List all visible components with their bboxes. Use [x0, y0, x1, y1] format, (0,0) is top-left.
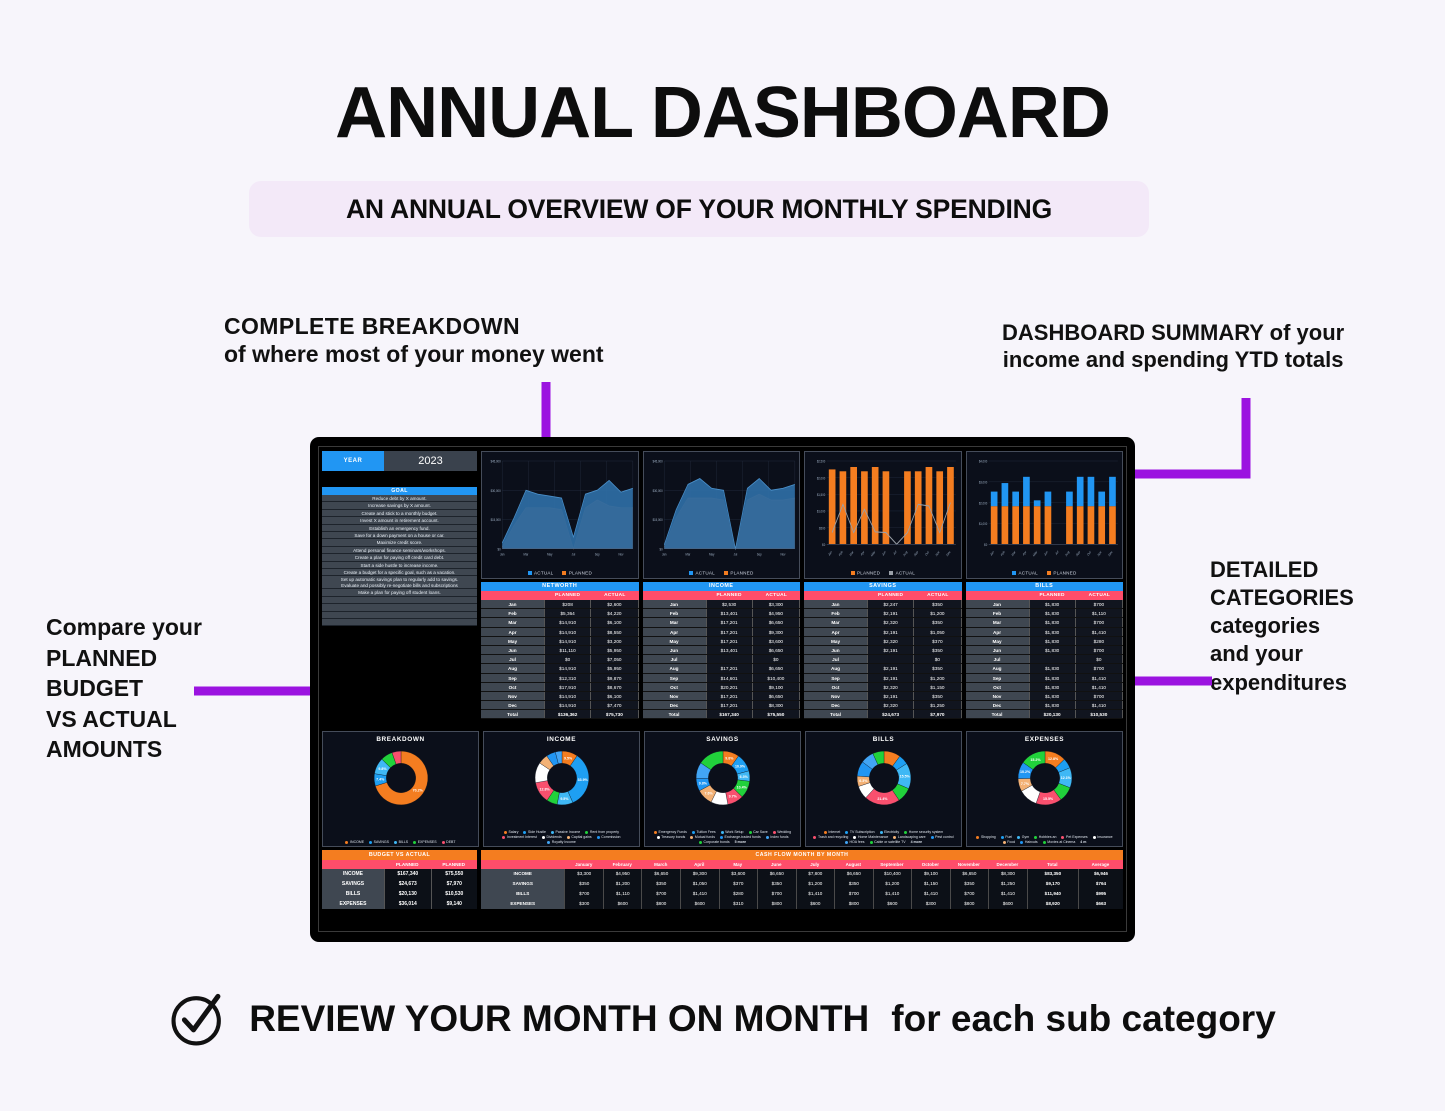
cashflow-cell[interactable]: $10,400 [873, 869, 912, 879]
table-cell-planned[interactable]: $12,310 [544, 674, 591, 682]
table-cell-planned[interactable]: $1,830 [1029, 683, 1076, 691]
table-row[interactable]: Jan$2,247$350 [804, 600, 962, 609]
cashflow-cell[interactable]: $350 [564, 879, 603, 889]
cashflow-cell[interactable]: $1,410 [680, 889, 719, 899]
cashflow-cell[interactable]: $6,650 [950, 869, 989, 879]
table-row[interactable]: Oct$1,830$1,410 [966, 683, 1124, 692]
goal-item[interactable]: Create and stick to a monthly budget. [322, 510, 477, 517]
goal-item[interactable]: Save for a down payment on a house or ca… [322, 532, 477, 539]
table-cell-planned[interactable]: $2,191 [867, 674, 914, 682]
cashflow-header-cell: Average [1078, 860, 1123, 869]
goal-item[interactable]: Increase savings by X amount. [322, 502, 477, 509]
cashflow-cell[interactable]: $280 [719, 889, 758, 899]
table-cell-actual[interactable]: $0 [753, 655, 800, 663]
pie-legend-more[interactable]: 4 m [1080, 840, 1086, 844]
svg-text:Nov: Nov [618, 552, 623, 557]
table-row[interactable]: Jan$2,530$3,300 [643, 600, 801, 609]
table-row[interactable]: Mar$2,320$350 [804, 618, 962, 627]
cashflow-cell[interactable]: $300 [564, 899, 603, 909]
table-cell-actual[interactable]: $6,650 [753, 692, 800, 700]
table-cell-planned[interactable]: $17,201 [706, 628, 753, 636]
table-row[interactable]: Dec$2,320$1,250 [804, 701, 962, 710]
pie-legend-label: Trash and recycling [818, 835, 848, 839]
table-row[interactable]: Oct$20,201$9,100 [643, 683, 801, 692]
cashflow-cell[interactable]: $600 [873, 899, 912, 909]
cashflow-cell[interactable]: $1,050 [680, 879, 719, 889]
table-cell-planned[interactable] [1029, 655, 1076, 663]
table-row[interactable]: Sep$1,830$1,410 [966, 674, 1124, 683]
table-row[interactable]: Sep$12,310$9,870 [481, 674, 639, 683]
chart-networth-area[interactable]: $0$15,000$30,000$45,000JanMarMayJulSepNo… [481, 451, 639, 579]
table-cell-actual[interactable]: $3,600 [753, 637, 800, 645]
table-title: SAVINGS [804, 582, 962, 591]
table-row[interactable]: Nov$17,201$6,650 [643, 692, 801, 701]
table-cell-planned[interactable] [867, 655, 914, 663]
table-cell-month: Dec [643, 701, 706, 709]
cashflow-cell[interactable]: $350 [950, 879, 989, 889]
table-row[interactable]: Aug$1,830$700 [966, 664, 1124, 673]
goal-items[interactable]: Reduce debt by X amount.Increase savings… [322, 495, 477, 584]
table-cell-actual[interactable]: $350 [914, 646, 961, 654]
legend-swatch-icon [1001, 836, 1004, 839]
cashflow-cell[interactable]: $6,650 [757, 869, 796, 879]
cashflow-cell[interactable]: $350 [757, 879, 796, 889]
table-row[interactable]: May$17,201$3,600 [643, 637, 801, 646]
table-cell-planned[interactable]: $1,830 [1029, 674, 1076, 682]
legend-item: PLANNED [1047, 570, 1077, 575]
bva-cell-label[interactable]: EXPENSES [322, 899, 384, 909]
table-row[interactable]: Oct$2,320$1,150 [804, 683, 962, 692]
cashflow-cell[interactable]: $3,300 [564, 869, 603, 879]
table-cell-planned[interactable]: $2,320 [867, 683, 914, 691]
table-row[interactable]: Dec$14,910$7,470 [481, 701, 639, 710]
table-cell-planned[interactable]: $2,191 [867, 628, 914, 636]
table-cell-actual[interactable]: $700 [1076, 618, 1123, 626]
table-cell-actual[interactable]: $2,600 [591, 600, 638, 608]
cashflow-cell[interactable]: $600 [988, 899, 1027, 909]
goal-item[interactable]: Reduce debt by X amount. [322, 495, 477, 502]
year-selector[interactable]: YEAR 2023 [322, 451, 477, 471]
svg-text:May: May [870, 549, 876, 557]
table-cash-flow[interactable]: CASH FLOW MONTH BY MONTH JanuaryFebruary… [481, 850, 1123, 927]
bva-cell-label[interactable]: SAVINGS [322, 879, 384, 889]
table-cell-actual[interactable]: $8,300 [753, 701, 800, 709]
cashflow-row[interactable]: INCOME$3,300$4,950$6,650$9,300$3,600$6,6… [481, 869, 1123, 879]
table-cell-planned[interactable]: $11,110 [544, 646, 591, 654]
table-cell-planned[interactable]: $1,830 [1029, 637, 1076, 645]
bva-cell-label[interactable]: INCOME [322, 869, 384, 879]
goal-header: GOAL [322, 487, 477, 495]
table-cell-actual[interactable]: $700 [1076, 664, 1123, 672]
pie-legend-item: Pet Expenses [1061, 835, 1087, 839]
table-cell-planned[interactable]: $2,191 [867, 692, 914, 700]
table-row[interactable]: May$14,910$3,200 [481, 637, 639, 646]
table-cell-actual[interactable]: $6,100 [591, 618, 638, 626]
pie-legend-label: Movies at Cinema [1047, 840, 1075, 844]
table-cell-planned[interactable]: $17,201 [706, 692, 753, 700]
table-cell-actual[interactable]: $1,250 [914, 701, 961, 709]
cashflow-row[interactable]: EXPENSES$300$600$800$600$310$800$600$800… [481, 899, 1123, 909]
table-total-row: Total$24,673$7,970 [804, 710, 962, 719]
table-income[interactable]: INCOME PLANNEDACTUALJan$2,530$3,300Feb$1… [643, 582, 801, 728]
table-cell-planned[interactable]: $14,910 [544, 664, 591, 672]
bva-row[interactable]: EXPENSES$36,014$9,140 [322, 899, 477, 909]
goal-item[interactable]: Make a plan for paying off student loans… [322, 589, 477, 596]
table-cell-actual[interactable]: $3,300 [753, 600, 800, 608]
table-cell-actual[interactable]: $350 [914, 692, 961, 700]
table-cell-actual[interactable]: $1,410 [1076, 701, 1123, 709]
table-cell-planned[interactable] [706, 655, 753, 663]
pie-legend-more[interactable]: 4 more [911, 840, 922, 844]
legend-swatch-icon [585, 831, 588, 834]
cashflow-cell[interactable]: $700 [641, 889, 680, 899]
table-cell-planned[interactable]: $0 [544, 655, 591, 663]
table-cell-planned[interactable]: $14,910 [544, 618, 591, 626]
table-cell-actual[interactable]: $5,950 [591, 664, 638, 672]
goal-item[interactable] [322, 612, 477, 619]
cashflow-cell[interactable]: $800 [834, 899, 873, 909]
goal-item[interactable]: Establish an emergency fund. [322, 525, 477, 532]
table-cell-actual[interactable]: $1,200 [914, 674, 961, 682]
bva-cell-planned[interactable]: $24,673 [384, 879, 431, 889]
table-cell-month: Nov [966, 692, 1029, 700]
svg-text:$1,000: $1,000 [978, 522, 986, 527]
table-cell-actual[interactable]: $9,870 [591, 674, 638, 682]
legend-label: PLANNED [730, 570, 753, 575]
table-cell-actual[interactable]: $3,200 [591, 637, 638, 645]
table-cell-planned[interactable]: $1,830 [1029, 701, 1076, 709]
table-cell-planned[interactable]: $2,191 [867, 646, 914, 654]
table-cell-actual[interactable]: $4,950 [753, 609, 800, 617]
table-row[interactable]: Apr$14,910$8,550 [481, 628, 639, 637]
table-cell-planned[interactable]: $13,401 [706, 609, 753, 617]
table-header-row: PLANNEDACTUAL [966, 591, 1124, 600]
table-row[interactable]: Sep$14,601$10,400 [643, 674, 801, 683]
cashflow-cell[interactable]: $600 [680, 899, 719, 909]
callout-compare-line5: AMOUNTS [46, 734, 202, 765]
cashflow-cell[interactable]: $800 [641, 899, 680, 909]
goal-item[interactable]: Maximize credit score. [322, 539, 477, 546]
table-row[interactable]: Oct$17,910$8,670 [481, 683, 639, 692]
table-cell-actual[interactable]: $350 [914, 600, 961, 608]
cashflow-cell[interactable]: $1,410 [796, 889, 835, 899]
table-cell-actual[interactable]: $1,410 [1076, 674, 1123, 682]
table-row[interactable]: Jul $0 [643, 655, 801, 664]
bva-header-cell [322, 860, 384, 869]
svg-text:9.7%: 9.7% [728, 795, 737, 799]
table-cell-actual[interactable]: $8,550 [591, 628, 638, 636]
table-budget-vs-actual[interactable]: BUDGET VS ACTUAL PLANNEDPLANNEDINCOME$16… [322, 850, 477, 927]
chart-savings-bar[interactable]: $0$500$1,000$1,500$2,000$2,500JanFebMarA… [804, 451, 962, 579]
table-row[interactable]: Aug$14,910$5,950 [481, 664, 639, 673]
table-row[interactable]: Nov$2,191$350 [804, 692, 962, 701]
cashflow-cell[interactable]: $1,110 [603, 889, 642, 899]
table-cell-planned[interactable]: $17,201 [706, 701, 753, 709]
table-cell-planned[interactable]: $2,320 [867, 701, 914, 709]
table-cell-actual[interactable]: $0 [914, 655, 961, 663]
table-cell-actual[interactable]: $6,650 [753, 618, 800, 626]
bva-row[interactable]: INCOME$167,340$75,550 [322, 869, 477, 879]
table-cell-actual[interactable]: $10,400 [753, 674, 800, 682]
table-row[interactable]: May$2,320$370 [804, 637, 962, 646]
table-row[interactable]: Mar$17,201$6,650 [643, 618, 801, 627]
table-row[interactable]: Jul $0 [966, 655, 1124, 664]
table-cell-actual[interactable]: $370 [914, 637, 961, 645]
table-cell-planned[interactable]: $5,364 [544, 609, 591, 617]
cashflow-cell[interactable]: $3,600 [719, 869, 758, 879]
legend-swatch-icon [394, 841, 397, 844]
table-cell-planned[interactable]: $13,401 [706, 646, 753, 654]
table-cell-actual[interactable]: $9,300 [753, 628, 800, 636]
table-row[interactable]: Apr$2,191$1,050 [804, 628, 962, 637]
cashflow-cell[interactable]: $1,410 [911, 889, 950, 899]
table-row[interactable]: Nov$14,910$6,100 [481, 692, 639, 701]
pie-legend-item: Dividends [542, 835, 562, 839]
table-cell-actual[interactable]: $350 [914, 618, 961, 626]
cashflow-cell[interactable]: $1,200 [603, 879, 642, 889]
goal-item[interactable]: Invest X amount in retirement account. [322, 517, 477, 524]
table-cell-month: Jul [804, 655, 867, 663]
table-row[interactable]: May$1,830$280 [966, 637, 1124, 646]
table-cell-planned[interactable]: $2,530 [706, 600, 753, 608]
cashflow-cell[interactable]: $800 [757, 899, 796, 909]
table-cell-month: Jan [966, 600, 1029, 608]
cashflow-cell[interactable]: $1,200 [796, 879, 835, 889]
chart-bills-bar[interactable]: $0$1,000$2,000$3,000$4,000JanFebMarAprMa… [966, 451, 1124, 579]
cashflow-cell[interactable]: $9,100 [911, 869, 950, 879]
cashflow-cell[interactable]: $1,150 [911, 879, 950, 889]
table-cell-planned[interactable]: $2,320 [867, 637, 914, 645]
table-row[interactable]: Feb$13,401$4,950 [643, 609, 801, 618]
bva-cell-planned[interactable]: $20,130 [384, 889, 431, 899]
cashflow-cell[interactable]: $7,800 [796, 869, 835, 879]
table-row[interactable]: Jul $0 [804, 655, 962, 664]
svg-text:Nov: Nov [780, 552, 785, 557]
cashflow-cell[interactable]: $1,200 [873, 879, 912, 889]
table-cell-planned[interactable]: $2,191 [867, 609, 914, 617]
donuts-row: BREAKDOWN 70.2%7.4%9.8% INCOMESAVINGSBIL… [322, 731, 1123, 847]
cashflow-cell[interactable]: $700 [834, 889, 873, 899]
cashflow-row[interactable]: SAVINGS$350$1,200$350$1,050$370$350$1,20… [481, 879, 1123, 889]
table-cell-actual[interactable]: $1,150 [914, 683, 961, 691]
svg-text:$0: $0 [659, 547, 662, 552]
goal-item[interactable] [322, 619, 477, 626]
bva-row[interactable]: BILLS$20,130$10,530 [322, 889, 477, 899]
bva-cell-actual[interactable]: $7,970 [431, 879, 478, 889]
svg-text:6.3%: 6.3% [859, 779, 868, 783]
table-row[interactable]: Jun$1,830$700 [966, 646, 1124, 655]
bva-cell-planned[interactable]: $167,340 [384, 869, 431, 879]
table-networth[interactable]: NETWORTH PLANNEDACTUALJan$208$2,600Feb$5… [481, 582, 639, 728]
table-cell-planned[interactable]: $17,201 [706, 637, 753, 645]
table-row[interactable]: Feb$2,191$1,200 [804, 609, 962, 618]
cashflow-cell[interactable]: $300 [911, 899, 950, 909]
table-row[interactable]: Jun$2,191$350 [804, 646, 962, 655]
table-cell-month: Nov [481, 692, 544, 700]
table-row[interactable]: Nov$1,830$700 [966, 692, 1124, 701]
table-cell-actual[interactable]: $700 [1076, 646, 1123, 654]
table-cell-actual[interactable]: $5,950 [591, 646, 638, 654]
table-cell-planned[interactable]: $17,201 [706, 664, 753, 672]
table-cell-actual[interactable]: $1,050 [914, 628, 961, 636]
table-row[interactable]: Aug$2,191$350 [804, 664, 962, 673]
cashflow-cell[interactable]: $1,250 [988, 879, 1027, 889]
pie-legend-item: DEBT [442, 840, 456, 844]
table-cell-planned[interactable]: $1,830 [1029, 692, 1076, 700]
table-cell-planned[interactable]: $17,201 [706, 618, 753, 626]
table-cell-planned[interactable]: $208 [544, 600, 591, 608]
table-cell-actual[interactable]: $6,650 [753, 646, 800, 654]
table-cell-actual[interactable]: $1,110 [1076, 609, 1123, 617]
legend-label: ACTUAL [1019, 570, 1038, 575]
goal-item[interactable]: Evaluate and possibly re-negotiate bills… [322, 582, 477, 589]
bva-cell-actual[interactable]: $75,550 [431, 869, 478, 879]
year-value[interactable]: 2023 [384, 451, 477, 471]
table-row[interactable]: Dec$17,201$8,300 [643, 701, 801, 710]
table-cell-planned[interactable]: $1,830 [1029, 609, 1076, 617]
bva-cell-label[interactable]: BILLS [322, 889, 384, 899]
cashflow-cell[interactable]: $4,950 [603, 869, 642, 879]
pie-legend-label: Hobbies an [1039, 835, 1057, 839]
table-cell-planned[interactable]: $2,320 [867, 618, 914, 626]
cashflow-cell[interactable]: $9,300 [680, 869, 719, 879]
cashflow-cell[interactable]: $350 [834, 879, 873, 889]
table-cell-actual[interactable]: $4,220 [591, 609, 638, 617]
table-cell-planned[interactable]: $2,247 [867, 600, 914, 608]
cashflow-cell[interactable]: $600 [796, 899, 835, 909]
table-bills[interactable]: BILLS PLANNEDACTUALJan$1,830$700Feb$1,83… [966, 582, 1124, 728]
pie-legend-label: Insurance [1097, 835, 1112, 839]
legend-swatch-icon [551, 831, 554, 834]
table-row[interactable]: Jul$0$7,050 [481, 655, 639, 664]
goal-item[interactable] [322, 604, 477, 611]
table-cell-planned[interactable]: $14,910 [544, 692, 591, 700]
cashflow-cell[interactable]: $350 [641, 879, 680, 889]
table-cell-planned[interactable]: $14,910 [544, 701, 591, 709]
bva-cell-planned[interactable]: $36,014 [384, 899, 431, 909]
cashflow-cell[interactable]: $310 [719, 899, 758, 909]
spreadsheet-canvas[interactable]: YEAR 2023 GOAL Reduce debt by X amount.I… [319, 447, 1126, 931]
table-row[interactable]: Feb$5,364$4,220 [481, 609, 639, 618]
table-row[interactable]: Jun$13,401$6,650 [643, 646, 801, 655]
table-cell-planned[interactable]: $1,830 [1029, 600, 1076, 608]
table-cell-actual[interactable]: $1,200 [914, 609, 961, 617]
table-cell-planned[interactable]: $14,601 [706, 674, 753, 682]
pie-legend-item: Pest control [931, 835, 954, 839]
cashflow-cell[interactable]: $370 [719, 879, 758, 889]
table-savings[interactable]: SAVINGS PLANNEDACTUALJan$2,247$350Feb$2,… [804, 582, 962, 728]
table-row[interactable]: Feb$1,830$1,110 [966, 609, 1124, 618]
table-cell-planned[interactable]: $1,830 [1029, 628, 1076, 636]
table-cell-planned[interactable]: $20,201 [706, 683, 753, 691]
legend-swatch-icon [1043, 841, 1046, 844]
table-cell-planned[interactable]: $1,830 [1029, 646, 1076, 654]
table-row[interactable]: Jun$11,110$5,950 [481, 646, 639, 655]
cashflow-cell[interactable]: $6,650 [641, 869, 680, 879]
cashflow-cell[interactable]: $700 [950, 889, 989, 899]
cashflow-cell[interactable]: $1,410 [988, 889, 1027, 899]
table-cell-actual[interactable]: $280 [1076, 637, 1123, 645]
bva-cell-actual[interactable]: $9,140 [431, 899, 478, 909]
table-cell-actual[interactable]: $0 [1076, 655, 1123, 663]
table-cell-actual[interactable]: $350 [914, 664, 961, 672]
table-cell-actual[interactable]: $9,100 [753, 683, 800, 691]
table-cell-actual[interactable]: $1,410 [1076, 683, 1123, 691]
footer-main-text: REVIEW YOUR MONTH ON MONTH [249, 998, 869, 1040]
cashflow-cell[interactable]: $6,650 [834, 869, 873, 879]
goal-item[interactable]: Start a side hustle to increase income. [322, 562, 477, 569]
pie-legend-more[interactable]: 5 more [735, 840, 746, 844]
pie-legend-label: Side Hustle [528, 830, 546, 834]
cashflow-cell[interactable]: $800 [950, 899, 989, 909]
goal-item[interactable]: Create a budget for a specific goal, suc… [322, 569, 477, 576]
cashflow-row[interactable]: BILLS$700$1,110$700$1,410$280$700$1,410$… [481, 889, 1123, 899]
dashboard-screen[interactable]: YEAR 2023 GOAL Reduce debt by X amount.I… [318, 446, 1127, 932]
table-cell-planned[interactable]: $14,910 [544, 628, 591, 636]
table-cell-month: Aug [804, 664, 867, 672]
table-row[interactable]: Mar$1,830$700 [966, 618, 1124, 627]
table-cell-planned[interactable]: $1,830 [1029, 664, 1076, 672]
table-cell-actual[interactable]: $6,650 [753, 664, 800, 672]
table-cell-actual[interactable]: $7,470 [591, 701, 638, 709]
table-cell-actual[interactable]: $7,050 [591, 655, 638, 663]
bva-cell-actual[interactable]: $10,530 [431, 889, 478, 899]
callout-compare-line2: PLANNED [46, 643, 202, 674]
chart-income-area[interactable]: $0$15,000$30,000$45,000JanMarMayJulSepNo… [643, 451, 801, 579]
bva-row[interactable]: SAVINGS$24,673$7,970 [322, 879, 477, 889]
goal-item[interactable] [322, 597, 477, 604]
svg-text:$0: $0 [498, 547, 501, 552]
table-cell-planned[interactable]: $14,910 [544, 637, 591, 645]
table-row[interactable]: Jan$208$2,600 [481, 600, 639, 609]
donut-income[interactable]: INCOME 9.5%33.9%9.5%12.8%12.2% SalarySid… [483, 731, 640, 847]
donut-bills[interactable]: BILLS 15.5%21.4%6.3% InternetTV Subscrip… [805, 731, 962, 847]
table-cell-actual[interactable]: $8,670 [591, 683, 638, 691]
goal-items-continued[interactable]: Evaluate and possibly re-negotiate bills… [322, 582, 477, 626]
legend-swatch-icon [880, 831, 883, 834]
table-cell-planned[interactable]: $17,910 [544, 683, 591, 691]
cashflow-cell[interactable]: $700 [757, 889, 796, 899]
donut-savings[interactable]: SAVINGS 9.8%10.9%6.3%10.4%9.7%10.2%7.6%9… [644, 731, 801, 847]
table-row[interactable]: Mar$14,910$6,100 [481, 618, 639, 627]
svg-text:9.8%: 9.8% [378, 767, 387, 771]
table-row[interactable]: Apr$17,201$9,300 [643, 628, 801, 637]
donut-expenses[interactable]: EXPENSES 12.8%12.1%15.5%11.5%7.7%10.2%15… [966, 731, 1123, 847]
table-row[interactable]: Jan$1,830$700 [966, 600, 1124, 609]
pie-legend-label: Rent from property [590, 830, 619, 834]
cashflow-cell[interactable]: $8,300 [988, 869, 1027, 879]
cashflow-cell[interactable]: $700 [564, 889, 603, 899]
table-cell-actual[interactable]: $6,100 [591, 692, 638, 700]
table-title: BILLS [966, 582, 1124, 591]
table-row[interactable]: Dec$1,830$1,410 [966, 701, 1124, 710]
donut-savings-legend: Emergency FundsTuition FeesWork SetupCar… [645, 830, 800, 844]
table-cell-planned[interactable]: $2,191 [867, 664, 914, 672]
cashflow-cell[interactable]: $600 [603, 899, 642, 909]
table-row[interactable]: Sep$2,191$1,200 [804, 674, 962, 683]
table-cell-actual[interactable]: $1,410 [1076, 628, 1123, 636]
table-cell-actual[interactable]: $700 [1076, 692, 1123, 700]
donut-breakdown[interactable]: BREAKDOWN 70.2%7.4%9.8% INCOMESAVINGSBIL… [322, 731, 479, 847]
cashflow-cell[interactable]: $1,410 [873, 889, 912, 899]
goal-item[interactable]: Attend personal finance seminars/worksho… [322, 547, 477, 554]
table-row[interactable]: Aug$17,201$6,650 [643, 664, 801, 673]
table-row[interactable]: Apr$1,830$1,410 [966, 628, 1124, 637]
goal-item[interactable]: Create a plan for paying off credit card… [322, 554, 477, 561]
pie-legend-item: Fuel [1001, 835, 1012, 839]
table-cell-actual[interactable]: $700 [1076, 600, 1123, 608]
table-cell-planned[interactable]: $1,830 [1029, 618, 1076, 626]
